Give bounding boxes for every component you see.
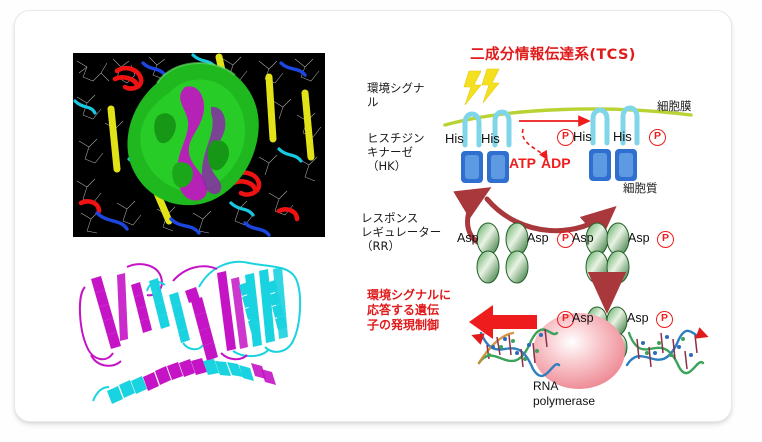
residue-his-4: His (613, 129, 632, 144)
phosphate-icon-his-right: P (649, 129, 666, 146)
label-gene-expression: 環境シグナルに 応答する遺伝 子の発現制御 (367, 288, 477, 333)
label-cell-membrane: 細胞膜 (657, 99, 692, 113)
label-histidine-kinase: ヒスチジン キナーゼ （HK） (367, 131, 449, 173)
residue-asp-1: Asp (457, 231, 479, 245)
label-environmental-signal: 環境シグナ ル (367, 81, 445, 109)
residue-asp-3: Asp (572, 231, 594, 245)
protein-ribbon-image (73, 251, 325, 406)
ribbon-diagram-graphic (73, 251, 325, 406)
label-response-regulator: レスポンス レギュレーター （RR） (361, 211, 455, 253)
screenshot-root: 二成分情報伝達系(TCS) (0, 0, 762, 442)
phosphate-icon-dna-right: P (656, 311, 673, 328)
label-rna-polymerase: RNA polymerase (533, 379, 653, 408)
residue-asp-4: Asp (628, 231, 650, 245)
residue-asp-5: Asp (572, 311, 594, 325)
figure-card: 二成分情報伝達系(TCS) (14, 10, 732, 422)
label-cytoplasm: 細胞質 (623, 181, 658, 195)
phosphate-icon-asp-right: P (657, 231, 674, 248)
residue-asp-2: Asp (527, 231, 549, 245)
residue-his-1: His (445, 131, 464, 146)
residue-asp-6: Asp (627, 311, 649, 325)
phosphate-icon-his-left: P (557, 129, 574, 146)
label-adp: ADP (541, 155, 571, 171)
molecular-surface-image (73, 53, 325, 237)
residue-his-2: His (481, 131, 500, 146)
residue-his-3: His (573, 129, 592, 144)
label-atp: ATP (509, 155, 536, 171)
tcs-diagram: 二成分情報伝達系(TCS) (361, 33, 739, 421)
surface-rendering-graphic (73, 53, 325, 237)
